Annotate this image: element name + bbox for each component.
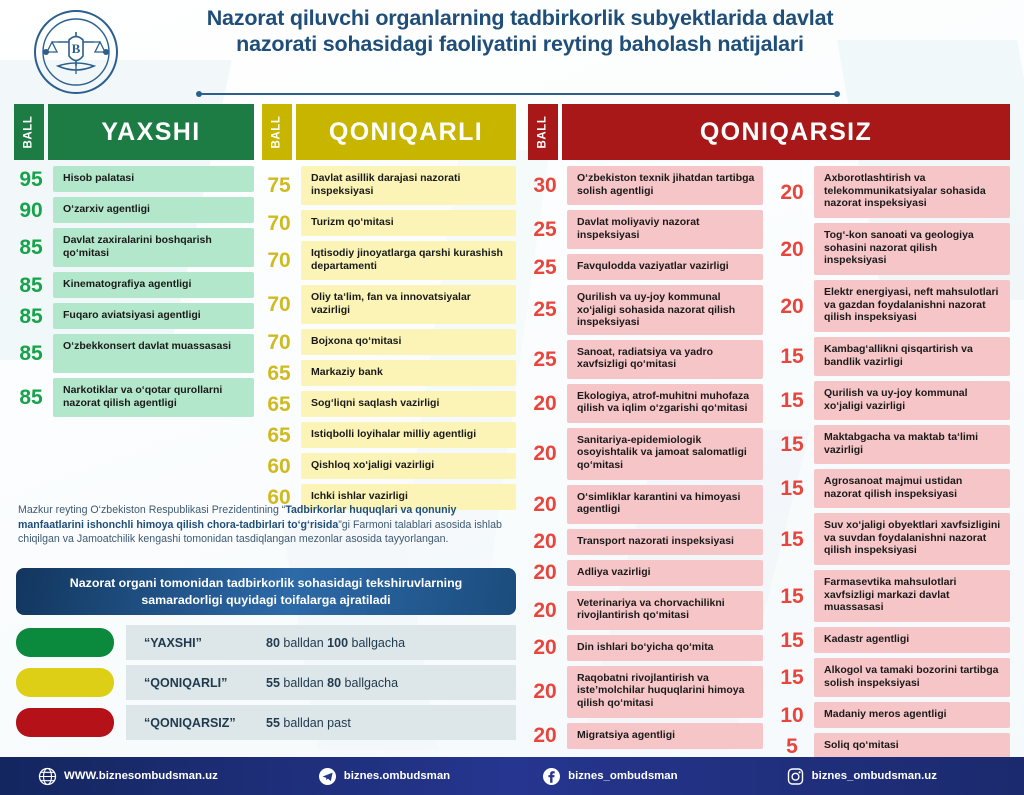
rating-score: 70 xyxy=(262,294,296,315)
legend-color-swatch xyxy=(16,708,114,737)
rating-organization-name: Migratsiya agentligi xyxy=(567,723,763,749)
footer-instagram-label: biznes_ombudsman.uz xyxy=(812,770,937,782)
page-title: Nazorat qiluvchi organlarning tadbirkorl… xyxy=(170,6,870,57)
column-header-qoniqarli: BALL QONIQARLI xyxy=(262,104,516,160)
footer-bar: WWW.biznesombudsman.uz biznes.ombudsman … xyxy=(0,757,1024,795)
rating-organization-name: Kinematografiya agentligi xyxy=(53,272,254,298)
rating-row: 75Davlat asillik darajasi nazorati inspe… xyxy=(262,166,516,205)
rating-organization-name: Istiqbolli loyihalar milliy agentligi xyxy=(301,422,516,448)
rating-score: 85 xyxy=(14,343,48,364)
rating-score: 25 xyxy=(528,257,562,278)
rating-organization-name: Farmasevtika mahsulotlari xavfsizligi ma… xyxy=(814,570,1010,622)
rating-organization-name: Ekologiya, atrof-muhitni muhofaza qilish… xyxy=(567,384,763,423)
rating-score: 20 xyxy=(528,681,562,702)
footer-website-link[interactable]: WWW.biznesombudsman.uz xyxy=(38,767,218,786)
rating-organization-name: Davlat moliyaviy nazorat inspeksiyasi xyxy=(567,210,763,249)
legend-row: “YAXSHI”80 balldan 100 ballgacha xyxy=(16,625,516,660)
rating-row: 15Kambag‘allikni qisqartirish va bandlik… xyxy=(775,337,1010,376)
rating-organization-name: Suv xo‘jaligi obyektlari xavfsizligini v… xyxy=(814,513,1010,565)
rating-score: 65 xyxy=(262,363,296,384)
rating-organization-name: O‘simliklar karantini va himoyasi agentl… xyxy=(567,485,763,524)
rating-row: 20Din ishlari bo‘yicha qo‘mita xyxy=(528,635,763,661)
column-title-qoniqarli: QONIQARLI xyxy=(296,104,516,160)
rating-organization-name: Davlat zaxiralarini boshqarish qo‘mitasi xyxy=(53,228,254,267)
ball-label-yaxshi: BALL xyxy=(14,104,44,160)
rating-score: 15 xyxy=(775,529,809,550)
rating-score: 85 xyxy=(14,387,48,408)
instagram-icon xyxy=(786,767,805,786)
rating-row: 15Qurilish va uy-joy kommunal xo‘jaligi … xyxy=(775,381,1010,420)
rating-organization-name: Qurilish va uy-joy kommunal xo‘jaligi va… xyxy=(814,381,1010,420)
rating-organization-name: Sanoat, radiatsiya va yadro xavfsizligi … xyxy=(567,340,763,379)
rating-row: 15Farmasevtika mahsulotlari xavfsizligi … xyxy=(775,570,1010,622)
legend-score-range: 80 balldan 100 ballgacha xyxy=(266,636,405,650)
rating-row: 25Favqulodda vaziyatlar vazirligi xyxy=(528,254,763,280)
rating-row: 60Qishloq xo‘jaligi vazirligi xyxy=(262,453,516,479)
rating-organization-name: Favqulodda vaziyatlar vazirligi xyxy=(567,254,763,280)
column-yaxshi: BALL YAXSHI 95Hisob palatasi90O‘zarxiv a… xyxy=(14,104,254,422)
footer-website-label: WWW.biznesombudsman.uz xyxy=(64,770,218,782)
rating-row: 25Sanoat, radiatsiya va yadro xavfsizlig… xyxy=(528,340,763,379)
footer-facebook-link[interactable]: biznes_ombudsman xyxy=(542,767,678,786)
rating-organization-name: Hisob palatasi xyxy=(53,166,254,192)
rating-score: 90 xyxy=(14,200,48,221)
rows-qoniqarli: 75Davlat asillik darajasi nazorati inspe… xyxy=(262,166,516,515)
rating-row: 30O‘zbekiston texnik jihatdan tartibga s… xyxy=(528,166,763,205)
rating-organization-name: Soliq qo‘mitasi xyxy=(814,733,1010,759)
rating-organization-name: Kadastr agentligi xyxy=(814,627,1010,653)
ball-label-qoniqarsiz: BALL xyxy=(528,104,558,160)
rating-organization-name: Qurilish va uy-joy kommunal xo‘jaligi so… xyxy=(567,285,763,335)
rating-organization-name: Kambag‘allikni qisqartirish va bandlik v… xyxy=(814,337,1010,376)
rating-row: 20Elektr energiyasi, neft mahsulotlari v… xyxy=(775,280,1010,332)
rating-row: 20O‘simliklar karantini va himoyasi agen… xyxy=(528,485,763,524)
legend-category-name: “QONIQARLI” xyxy=(126,676,266,690)
rating-score: 25 xyxy=(528,349,562,370)
column-header-qoniqarsiz: BALL QONIQARSIZ xyxy=(528,104,1010,160)
legend-category-name: “YAXSHI” xyxy=(126,636,266,650)
rating-row: 20Transport nazorati inspeksiyasi xyxy=(528,529,763,555)
rating-row: 70Turizm qo‘mitasi xyxy=(262,210,516,236)
rating-row: 15Suv xo‘jaligi obyektlari xavfsizligini… xyxy=(775,513,1010,565)
rating-organization-name: Markaziy bank xyxy=(301,360,516,386)
rating-row: 20Ekologiya, atrof-muhitni muhofaza qili… xyxy=(528,384,763,423)
rating-score: 65 xyxy=(262,394,296,415)
rating-score: 20 xyxy=(775,182,809,203)
rating-row: 15Alkogol va tamaki bozorini tartibga so… xyxy=(775,658,1010,697)
rating-row: 5Soliq qo‘mitasi xyxy=(775,733,1010,759)
rating-row: 25Qurilish va uy-joy kommunal xo‘jaligi … xyxy=(528,285,763,335)
rating-organization-name: Bojxona qo‘mitasi xyxy=(301,329,516,355)
rating-row: 70Bojxona qo‘mitasi xyxy=(262,329,516,355)
footer-telegram-label: biznes.ombudsman xyxy=(344,770,450,782)
rows-yaxshi: 95Hisob palatasi90O‘zarxiv agentligi85Da… xyxy=(14,166,254,422)
legend-score-range: 55 balldan 80 ballgacha xyxy=(266,676,398,690)
legend-category-name: “QONIQARSIZ” xyxy=(126,716,266,730)
rating-score: 25 xyxy=(528,299,562,320)
rating-score: 10 xyxy=(775,705,809,726)
rating-organization-name: Madaniy meros agentligi xyxy=(814,702,1010,728)
rating-score: 15 xyxy=(775,390,809,411)
rating-organization-name: O‘zbekkonsert davlat muassasasi xyxy=(53,334,254,373)
rating-row: 65Sog‘liqni saqlash vazirligi xyxy=(262,391,516,417)
rating-organization-name: Adliya vazirligi xyxy=(567,560,763,586)
column-qoniqarli: BALL QONIQARLI 75Davlat asillik darajasi… xyxy=(262,104,516,515)
rating-row: 65Markaziy bank xyxy=(262,360,516,386)
rating-organization-name: Oliy ta‘lim, fan va innovatsiyalar vazir… xyxy=(301,285,516,324)
rating-score: 85 xyxy=(14,275,48,296)
rating-score: 5 xyxy=(775,736,809,757)
methodology-note: Mazkur reyting O‘zbekiston Respublikasi … xyxy=(18,503,512,547)
legend-color-swatch xyxy=(16,628,114,657)
biznes-ombudsman-logo-icon: B xyxy=(28,8,124,96)
column-title-yaxshi: YAXSHI xyxy=(48,104,254,160)
rating-organization-name: Alkogol va tamaki bozorini tartibga soli… xyxy=(814,658,1010,697)
globe-icon xyxy=(38,767,57,786)
legend-color-swatch xyxy=(16,668,114,697)
rating-score: 20 xyxy=(775,239,809,260)
svg-text:B: B xyxy=(72,41,81,56)
rating-organization-name: Sog‘liqni saqlash vazirligi xyxy=(301,391,516,417)
categories-banner: Nazorat organi tomonidan tadbirkorlik so… xyxy=(16,568,516,615)
rating-organization-name: O‘zbekiston texnik jihatdan tartibga sol… xyxy=(567,166,763,205)
rating-score: 65 xyxy=(262,425,296,446)
legend-body: “QONIQARSIZ”55 balldan past xyxy=(126,705,516,740)
rating-score: 15 xyxy=(775,630,809,651)
rating-row: 20Sanitariya-epidemiologik osoyishtalik … xyxy=(528,428,763,480)
rows-qoniqarsiz-left: 30O‘zbekiston texnik jihatdan tartibga s… xyxy=(528,166,763,764)
rating-row: 85Kinematografiya agentligi xyxy=(14,272,254,298)
rating-row: 70Iqtisodiy jinoyatlarga qarshi kurashis… xyxy=(262,241,516,280)
legend-row: “QONIQARSIZ”55 balldan past xyxy=(16,705,516,740)
facebook-icon xyxy=(542,767,561,786)
rating-score: 20 xyxy=(528,531,562,552)
rating-row: 90O‘zarxiv agentligi xyxy=(14,197,254,223)
legend-body: “QONIQARLI”55 balldan 80 ballgacha xyxy=(126,665,516,700)
rating-score: 60 xyxy=(262,456,296,477)
rating-row: 20Adliya vazirligi xyxy=(528,560,763,586)
rating-organization-name: Tog‘-kon sanoati va geologiya sohasini n… xyxy=(814,223,1010,275)
rating-organization-name: Fuqaro aviatsiyasi agentligi xyxy=(53,303,254,329)
rating-row: 15Kadastr agentligi xyxy=(775,627,1010,653)
rating-row: 15Maktabgacha va maktab ta‘limi vazirlig… xyxy=(775,425,1010,464)
rating-organization-name: Narkotiklar va o‘qotar qurollarni nazora… xyxy=(53,378,254,417)
rating-score: 20 xyxy=(528,600,562,621)
column-title-qoniqarsiz: QONIQARSIZ xyxy=(562,104,1010,160)
footer-telegram-link[interactable]: biznes.ombudsman xyxy=(318,767,450,786)
rows-qoniqarsiz-right: 20Axborotlashtirish va telekommunikatsiy… xyxy=(775,166,1010,764)
legend-row: “QONIQARLI”55 balldan 80 ballgacha xyxy=(16,665,516,700)
footer-instagram-link[interactable]: biznes_ombudsman.uz xyxy=(786,767,937,786)
rating-score: 20 xyxy=(528,443,562,464)
rating-organization-name: Raqobatni rivojlantirish va iste’molchil… xyxy=(567,666,763,718)
rating-organization-name: Sanitariya-epidemiologik osoyishtalik va… xyxy=(567,428,763,480)
rating-score: 75 xyxy=(262,175,296,196)
rating-organization-name: O‘zarxiv agentligi xyxy=(53,197,254,223)
rating-row: 15Agrosanoat majmui ustidan nazorat qili… xyxy=(775,469,1010,508)
legend-score-range: 55 balldan past xyxy=(266,716,351,730)
rating-organization-name: Maktabgacha va maktab ta‘limi vazirligi xyxy=(814,425,1010,464)
legend-body: “YAXSHI”80 balldan 100 ballgacha xyxy=(126,625,516,660)
note-part1: Mazkur reyting O‘zbekiston Respublikasi … xyxy=(18,504,285,516)
rating-organization-name: Din ishlari bo‘yicha qo‘mita xyxy=(567,635,763,661)
rating-score: 15 xyxy=(775,586,809,607)
rating-score: 70 xyxy=(262,213,296,234)
rating-score: 30 xyxy=(528,175,562,196)
rating-organization-name: Qishloq xo‘jaligi vazirligi xyxy=(301,453,516,479)
rating-organization-name: Iqtisodiy jinoyatlarga qarshi kurashish … xyxy=(301,241,516,280)
footer-facebook-label: biznes_ombudsman xyxy=(568,770,678,782)
rating-organization-name: Elektr energiyasi, neft mahsulotlari va … xyxy=(814,280,1010,332)
rating-organization-name: Transport nazorati inspeksiyasi xyxy=(567,529,763,555)
ball-label-qoniqarli: BALL xyxy=(262,104,292,160)
rating-score: 20 xyxy=(528,393,562,414)
rating-organization-name: Davlat asillik darajasi nazorati inspeks… xyxy=(301,166,516,205)
rating-score: 15 xyxy=(775,346,809,367)
title-divider xyxy=(198,93,838,95)
rating-row: 95Hisob palatasi xyxy=(14,166,254,192)
rating-row: 20Tog‘-kon sanoati va geologiya sohasini… xyxy=(775,223,1010,275)
rating-score: 15 xyxy=(775,667,809,688)
rating-row: 25Davlat moliyaviy nazorat inspeksiyasi xyxy=(528,210,763,249)
rating-organization-name: Turizm qo‘mitasi xyxy=(301,210,516,236)
rating-organization-name: Agrosanoat majmui ustidan nazorat qilish… xyxy=(814,469,1010,508)
rating-row: 70Oliy ta‘lim, fan va innovatsiyalar vaz… xyxy=(262,285,516,324)
rating-score: 15 xyxy=(775,478,809,499)
rating-organization-name: Axborotlashtirish va telekommunikatsiyal… xyxy=(814,166,1010,218)
rating-row: 85Narkotiklar va o‘qotar qurollarni nazo… xyxy=(14,378,254,417)
rating-row: 20Migratsiya agentligi xyxy=(528,723,763,749)
rating-score: 25 xyxy=(528,219,562,240)
infographic-page: B Nazorat qiluvchi organlarning tadbirko… xyxy=(0,0,1024,795)
rating-score: 70 xyxy=(262,250,296,271)
rating-row: 65Istiqbolli loyihalar milliy agentligi xyxy=(262,422,516,448)
rating-score: 95 xyxy=(14,169,48,190)
rating-score: 70 xyxy=(262,332,296,353)
rating-row: 20Axborotlashtirish va telekommunikatsiy… xyxy=(775,166,1010,218)
column-header-yaxshi: BALL YAXSHI xyxy=(14,104,254,160)
rating-row: 85O‘zbekkonsert davlat muassasasi xyxy=(14,334,254,373)
rating-score: 20 xyxy=(775,296,809,317)
column-qoniqarsiz: BALL QONIQARSIZ 30O‘zbekiston texnik jih… xyxy=(528,104,1010,764)
rating-score: 85 xyxy=(14,306,48,327)
legend: “YAXSHI”80 balldan 100 ballgacha“QONIQAR… xyxy=(16,625,516,745)
header: B Nazorat qiluvchi organlarning tadbirko… xyxy=(0,0,1024,100)
rating-organization-name: Veterinariya va chorvachilikni rivojlant… xyxy=(567,591,763,630)
rating-score: 20 xyxy=(528,637,562,658)
rating-row: 85Fuqaro aviatsiyasi agentligi xyxy=(14,303,254,329)
rating-score: 20 xyxy=(528,494,562,515)
rating-row: 20Raqobatni rivojlantirish va iste’molch… xyxy=(528,666,763,718)
rating-score: 85 xyxy=(14,237,48,258)
rating-row: 85Davlat zaxiralarini boshqarish qo‘mita… xyxy=(14,228,254,267)
rating-score: 20 xyxy=(528,725,562,746)
rating-row: 20Veterinariya va chorvachilikni rivojla… xyxy=(528,591,763,630)
rating-row: 10Madaniy meros agentligi xyxy=(775,702,1010,728)
rating-score: 15 xyxy=(775,434,809,455)
telegram-icon xyxy=(318,767,337,786)
rating-score: 20 xyxy=(528,562,562,583)
